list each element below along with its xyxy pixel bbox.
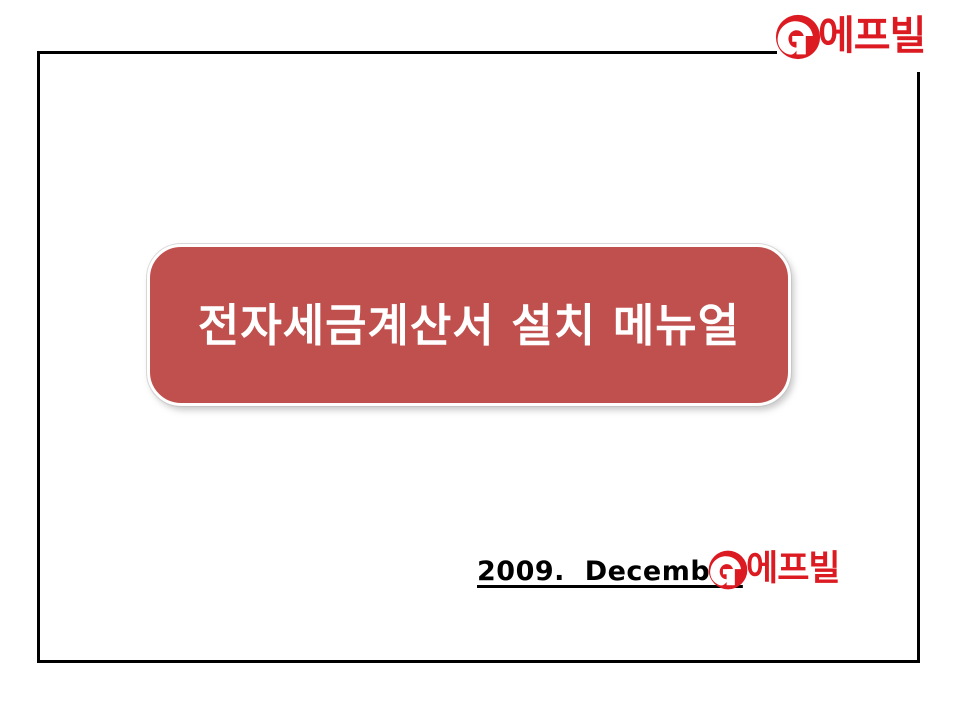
presentation-slide: 에프빌 전자세금계산서 설치 메뉴얼 2009. December 에프빌 — [0, 0, 960, 720]
footer-brand-logo: 에프빌 — [707, 549, 840, 591]
frame-border-top — [37, 51, 777, 54]
header-brand-logo: 에프빌 — [774, 13, 925, 61]
frame-border-left — [37, 51, 40, 663]
header-brand-wordmark: 에프빌 — [818, 16, 925, 56]
f-bill-circle-icon — [774, 13, 822, 61]
frame-border-right — [917, 72, 920, 663]
footer-brand-wordmark: 에프빌 — [746, 552, 840, 587]
slide-title: 전자세금계산서 설치 메뉴얼 — [198, 303, 740, 348]
slide-title-plate: 전자세금계산서 설치 메뉴얼 — [147, 244, 791, 406]
frame-border-bottom — [37, 660, 920, 663]
f-bill-circle-icon — [707, 549, 749, 591]
slide-date: 2009. December — [477, 556, 743, 587]
